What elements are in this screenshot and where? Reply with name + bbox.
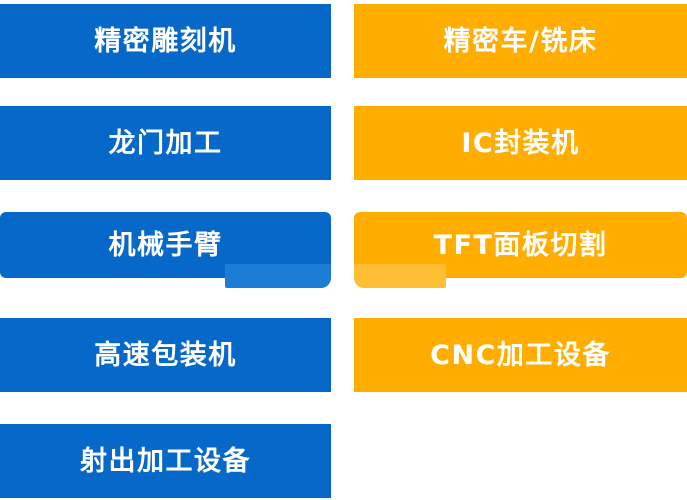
category-button-jing-mi-diao-ke-ji[interactable]: 精密雕刻机 bbox=[0, 4, 331, 78]
category-button-label: 龙门加工 bbox=[109, 130, 223, 157]
category-button-label: TFT面板切割 bbox=[434, 232, 608, 259]
category-button-label: CNC加工设备 bbox=[430, 342, 611, 369]
category-button-board: 精密雕刻机 精密车/铣床 龙门加工 IC封装机 机械手臂 TFT面板切割 高速包… bbox=[0, 0, 687, 500]
category-button-jing-mi-che-xi-chuang[interactable]: 精密车/铣床 bbox=[354, 4, 687, 78]
category-button-ic-feng-zhuang-ji[interactable]: IC封装机 bbox=[354, 106, 687, 180]
category-button-she-chu-jia-gong-she-bei[interactable]: 射出加工设备 bbox=[0, 424, 331, 498]
category-button-tft-mian-ban-qie-ge[interactable]: TFT面板切割 bbox=[354, 212, 687, 278]
category-button-ji-xie-shou-bi[interactable]: 机械手臂 bbox=[0, 212, 331, 278]
category-button-gao-su-bao-zhuang-ji[interactable]: 高速包装机 bbox=[0, 318, 331, 392]
category-button-label: 精密雕刻机 bbox=[94, 28, 237, 55]
category-button-label: 高速包装机 bbox=[94, 342, 237, 369]
highlight-tab-blue bbox=[225, 264, 331, 288]
category-button-long-men-jia-gong[interactable]: 龙门加工 bbox=[0, 106, 331, 180]
category-button-label: 精密车/铣床 bbox=[444, 28, 598, 55]
category-button-label: 射出加工设备 bbox=[80, 448, 251, 475]
category-button-label: 机械手臂 bbox=[109, 232, 223, 259]
category-button-cnc-jia-gong-she-bei[interactable]: CNC加工设备 bbox=[354, 318, 687, 392]
category-button-label: IC封装机 bbox=[461, 130, 579, 157]
highlight-tab-orange bbox=[354, 264, 446, 288]
